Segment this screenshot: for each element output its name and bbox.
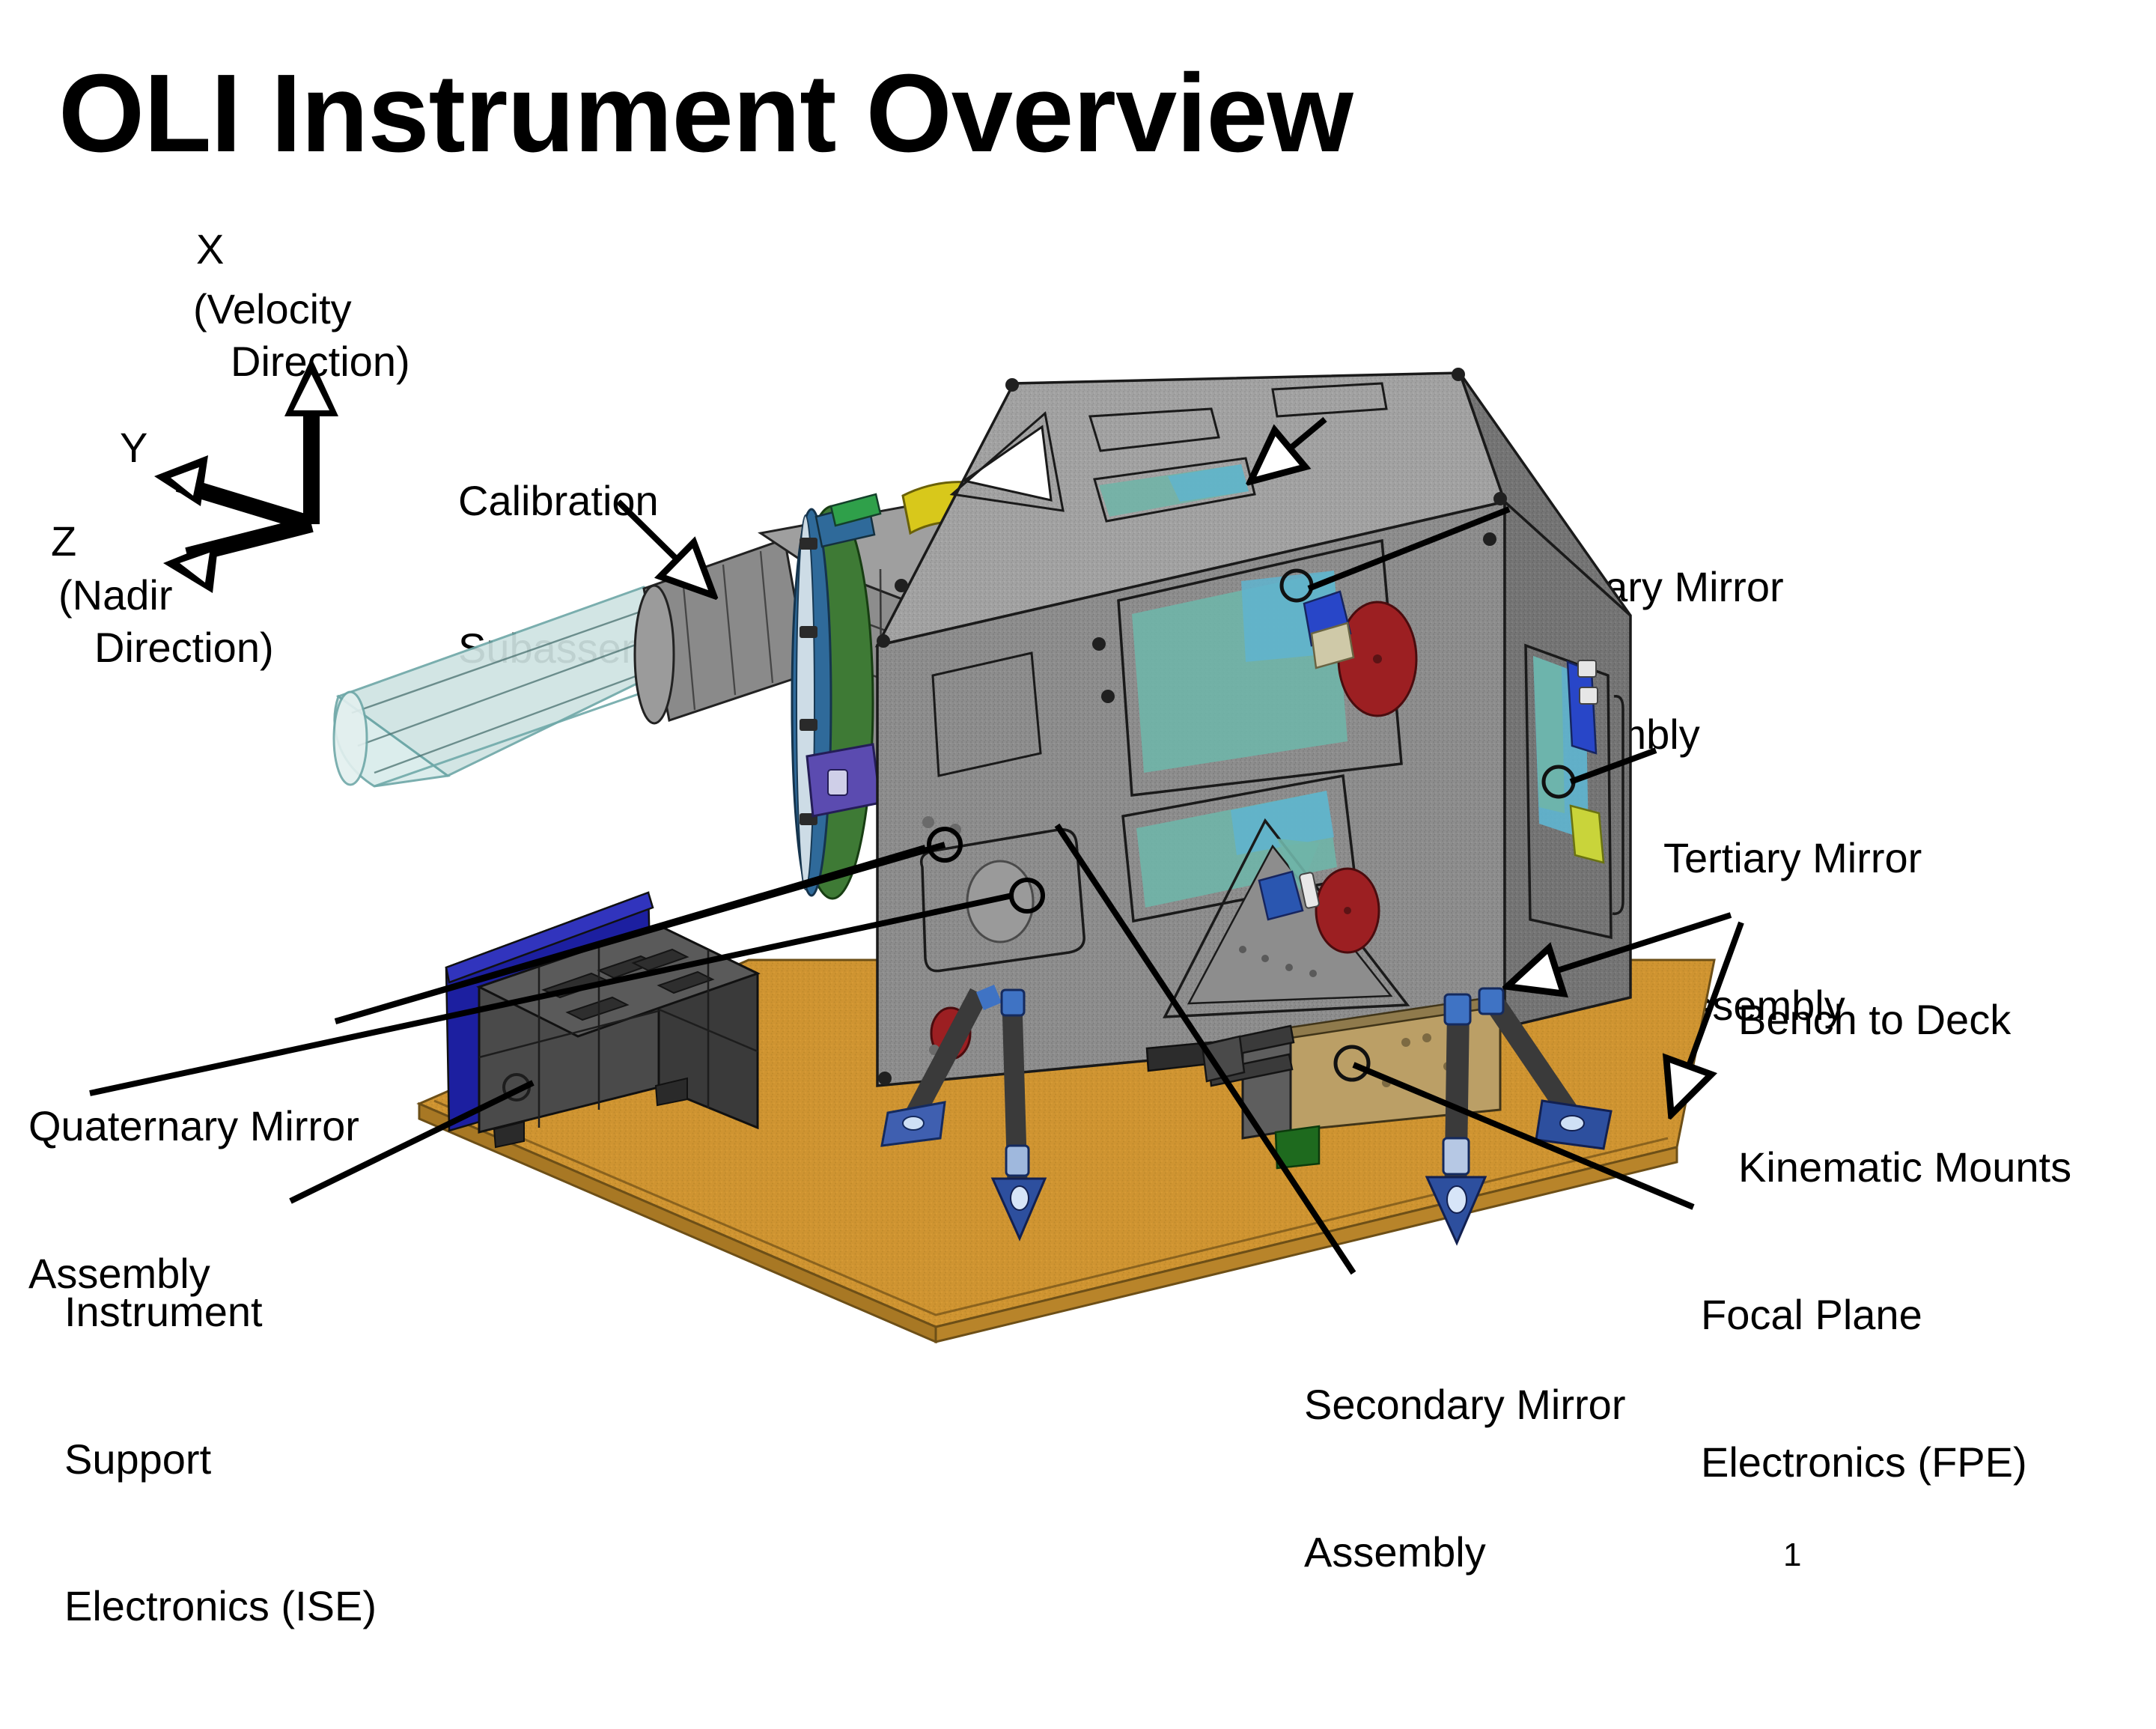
leader-calibration-subassembly: [618, 502, 711, 593]
oli-instrument-illustration: [0, 0, 2156, 1604]
axis-triad-icon: [154, 358, 338, 593]
